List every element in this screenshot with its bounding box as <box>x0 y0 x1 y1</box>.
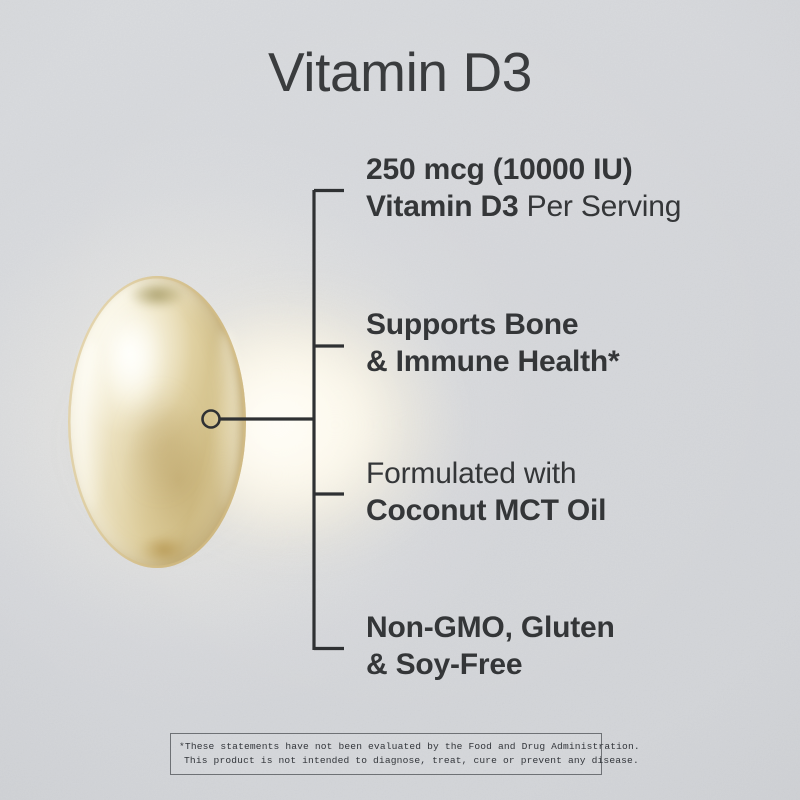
benefit-bone-line2: & Immune Health* <box>366 343 620 380</box>
benefit-item-non-gmo: Non-GMO, Gluten & Soy-Free <box>366 609 615 683</box>
benefit-bone-line1: Supports Bone <box>366 306 620 343</box>
benefit-mct-line2: Coconut MCT Oil <box>366 492 606 529</box>
fda-disclaimer-box: *These statements have not been evaluate… <box>170 733 602 775</box>
benefit-item-bone-immune: Supports Bone & Immune Health* <box>366 306 620 380</box>
benefit-gmo-line1: Non-GMO, Gluten <box>366 609 615 646</box>
disclaimer-line-2: This product is not intended to diagnose… <box>179 754 593 768</box>
benefit-item-mct-oil: Formulated with Coconut MCT Oil <box>366 455 606 529</box>
capsule-callout-dot <box>203 411 220 428</box>
benefit-dosage-line2: Vitamin D3 Per Serving <box>366 188 681 225</box>
benefit-mct-line1: Formulated with <box>366 455 606 492</box>
benefit-item-dosage: 250 mcg (10000 IU) Vitamin D3 Per Servin… <box>366 151 681 225</box>
benefit-dosage-line1: 250 mcg (10000 IU) <box>366 151 681 188</box>
product-infographic: Vitamin D3 250 mcg (10000 IU) <box>0 0 800 800</box>
benefit-gmo-line2: & Soy-Free <box>366 646 615 683</box>
disclaimer-line-1: *These statements have not been evaluate… <box>179 740 593 754</box>
